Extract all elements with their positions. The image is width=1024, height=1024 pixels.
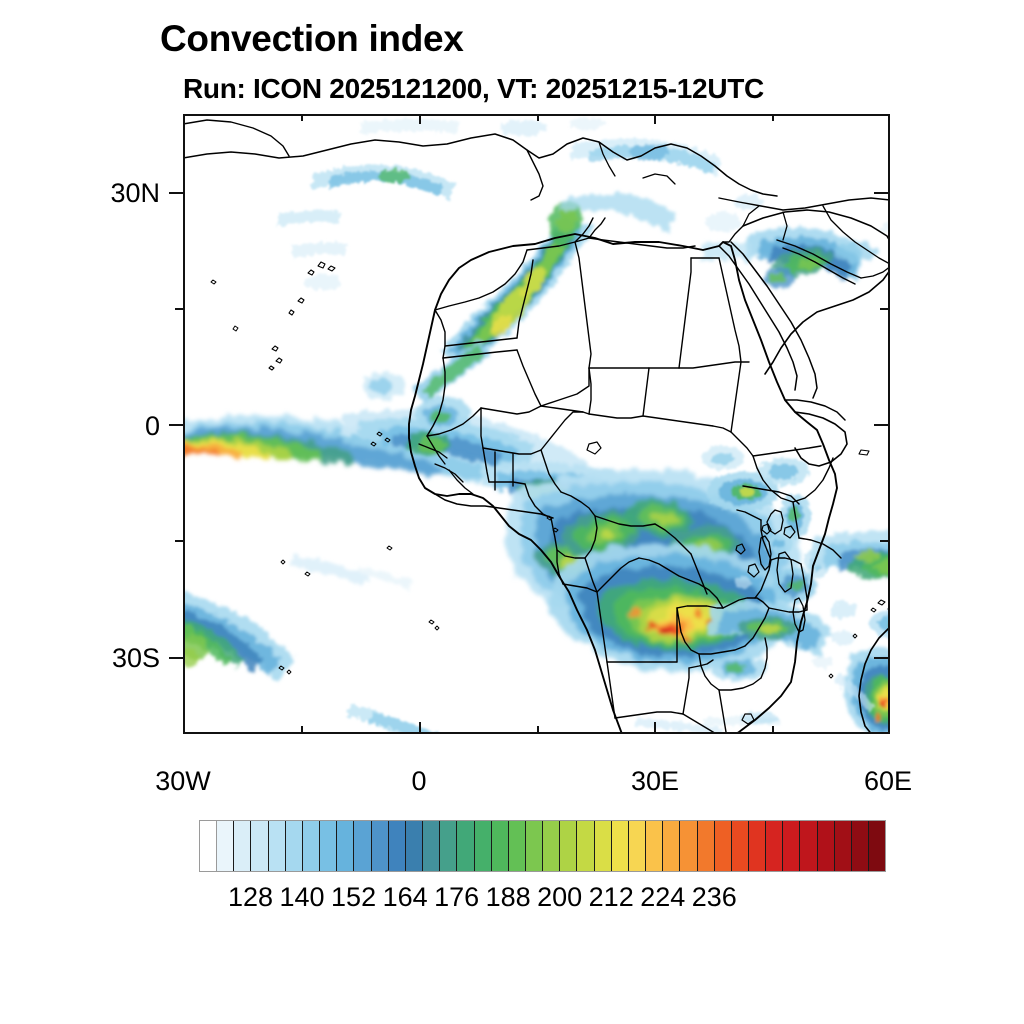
colorbar-swatch <box>320 821 337 871</box>
tick-y-left-30n <box>169 192 185 194</box>
colorbar-swatch <box>543 821 560 871</box>
colorbar-swatch <box>835 821 852 871</box>
colorbar-swatch <box>423 821 440 871</box>
colorbar-tick-label: 176 <box>434 882 479 913</box>
colorbar-tick-label: 140 <box>280 882 325 913</box>
tick-y-left-15s <box>175 540 185 542</box>
tick-y-right-15s <box>880 540 890 542</box>
colorbar-swatch <box>200 821 217 871</box>
colorbar-swatch <box>509 821 526 871</box>
colorbar-swatch <box>406 821 423 871</box>
colorbar-swatch <box>766 821 783 871</box>
tick-x-bottom-30w <box>183 722 185 734</box>
colorbar-swatch <box>269 821 286 871</box>
y-tick-label-30n: 30N <box>60 178 160 209</box>
tick-x-bottom-15w <box>301 726 303 734</box>
colorbar-swatch <box>715 821 732 871</box>
colorbar-swatch <box>869 821 885 871</box>
colorbar-swatch <box>732 821 749 871</box>
colorbar-swatch <box>783 821 800 871</box>
colorbar-swatch <box>526 821 543 871</box>
colorbar-swatch <box>217 821 234 871</box>
colorbar-swatch <box>698 821 715 871</box>
colorbar-swatch <box>457 821 474 871</box>
colorbar-tick-label: 212 <box>589 882 634 913</box>
colorbar-swatch <box>663 821 680 871</box>
colorbar-tick-label: 152 <box>331 882 376 913</box>
y-tick-label-30s: 30S <box>60 643 160 674</box>
tick-x-bottom-0 <box>419 722 421 734</box>
colorbar-swatch <box>629 821 646 871</box>
colorbar-tick-label: 188 <box>486 882 531 913</box>
colorbar-swatch <box>646 821 663 871</box>
colorbar-swatch <box>251 821 268 871</box>
colorbar-swatch <box>475 821 492 871</box>
tick-y-left-0 <box>169 424 185 426</box>
colorbar-swatch <box>818 821 835 871</box>
map-panel <box>183 114 890 734</box>
x-tick-label-30w: 30W <box>123 766 243 797</box>
colorbar[interactable] <box>199 820 886 872</box>
tick-y-right-0 <box>874 424 890 426</box>
tick-x-bottom-30e <box>654 722 656 734</box>
tick-x-top-60e <box>888 114 890 124</box>
tick-y-right-15n <box>880 308 890 310</box>
tick-x-top-15w <box>301 114 303 121</box>
tick-y-left-30s <box>169 657 185 659</box>
x-tick-label-0: 0 <box>359 766 479 797</box>
tick-x-bottom-60e <box>888 722 890 734</box>
tick-x-top-0 <box>419 114 421 124</box>
colorbar-swatch <box>560 821 577 871</box>
tick-x-top-45e <box>772 114 774 121</box>
tick-y-left-15n <box>175 308 185 310</box>
tick-x-top-30w <box>183 114 185 124</box>
figure-subtitle: Run: ICON 2025121200, VT: 20251215-12UTC <box>183 73 764 105</box>
colorbar-swatch <box>612 821 629 871</box>
colorbar-swatch <box>577 821 594 871</box>
colorbar-swatch <box>852 821 869 871</box>
colorbar-swatch <box>492 821 509 871</box>
colorbar-tick-label: 236 <box>692 882 737 913</box>
colorbar-swatch <box>440 821 457 871</box>
colorbar-tick-label: 200 <box>537 882 582 913</box>
tick-y-right-30s <box>874 657 890 659</box>
colorbar-tick-label: 164 <box>383 882 428 913</box>
colorbar-swatch <box>372 821 389 871</box>
map-canvas <box>183 114 890 734</box>
colorbar-swatch <box>800 821 817 871</box>
tick-x-bottom-45e <box>772 726 774 734</box>
colorbar-swatch <box>234 821 251 871</box>
convection-index-figure: Convection index Run: ICON 2025121200, V… <box>0 0 1024 1024</box>
colorbar-swatch <box>354 821 371 871</box>
colorbar-swatch <box>286 821 303 871</box>
x-tick-label-30e: 30E <box>595 766 715 797</box>
colorbar-swatch <box>337 821 354 871</box>
colorbar-swatch <box>389 821 406 871</box>
colorbar-swatch <box>680 821 697 871</box>
tick-x-top-15e <box>537 114 539 121</box>
colorbar-swatch <box>595 821 612 871</box>
colorbar-tick-label: 224 <box>640 882 685 913</box>
x-tick-label-60e: 60E <box>828 766 948 797</box>
tick-x-bottom-15e <box>537 726 539 734</box>
tick-x-top-30e <box>654 114 656 124</box>
colorbar-tick-labels: 128140152164176188200212224236 <box>199 882 886 916</box>
page-title: Convection index <box>160 18 464 60</box>
colorbar-swatch <box>303 821 320 871</box>
y-tick-label-0: 0 <box>60 411 160 442</box>
tick-y-right-30n <box>874 192 890 194</box>
colorbar-swatch <box>749 821 766 871</box>
colorbar-tick-label: 128 <box>228 882 273 913</box>
